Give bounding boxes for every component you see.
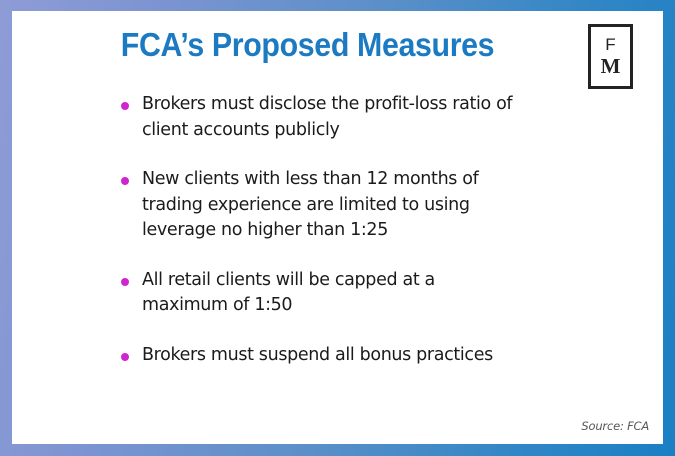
list-item: Brokers must disclose the profit-loss ra… (121, 92, 623, 143)
list-item-label: Brokers must disclose the profit-loss ra… (142, 92, 514, 143)
list-item: New clients with less than 12 months of … (121, 167, 623, 244)
list-item-label: Brokers must suspend all bonus practices (142, 343, 514, 369)
list-item: Brokers must suspend all bonus practices (121, 343, 623, 369)
list-item: All retail clients will be capped at a m… (121, 268, 623, 319)
page-title: FCA’s Proposed Measures (36, 26, 580, 64)
logo-letter-f: F (605, 36, 615, 53)
logo-letter-m: M (601, 56, 621, 77)
measures-list: Brokers must disclose the profit-loss ra… (121, 92, 623, 368)
source-attribution: Source: FCA (581, 419, 649, 433)
bullet-dot-icon (121, 353, 129, 361)
bullet-dot-icon (121, 278, 129, 286)
bullet-dot-icon (121, 102, 129, 110)
list-item-label: New clients with less than 12 months of … (142, 167, 514, 244)
infographic-card: FCA’s Proposed Measures F M Brokers must… (0, 0, 675, 456)
fm-logo: F M (588, 24, 633, 89)
white-content-panel: FCA’s Proposed Measures F M Brokers must… (12, 11, 663, 444)
bullet-dot-icon (121, 177, 129, 185)
header: FCA’s Proposed Measures F M (12, 11, 663, 95)
list-item-label: All retail clients will be capped at a m… (142, 268, 514, 319)
